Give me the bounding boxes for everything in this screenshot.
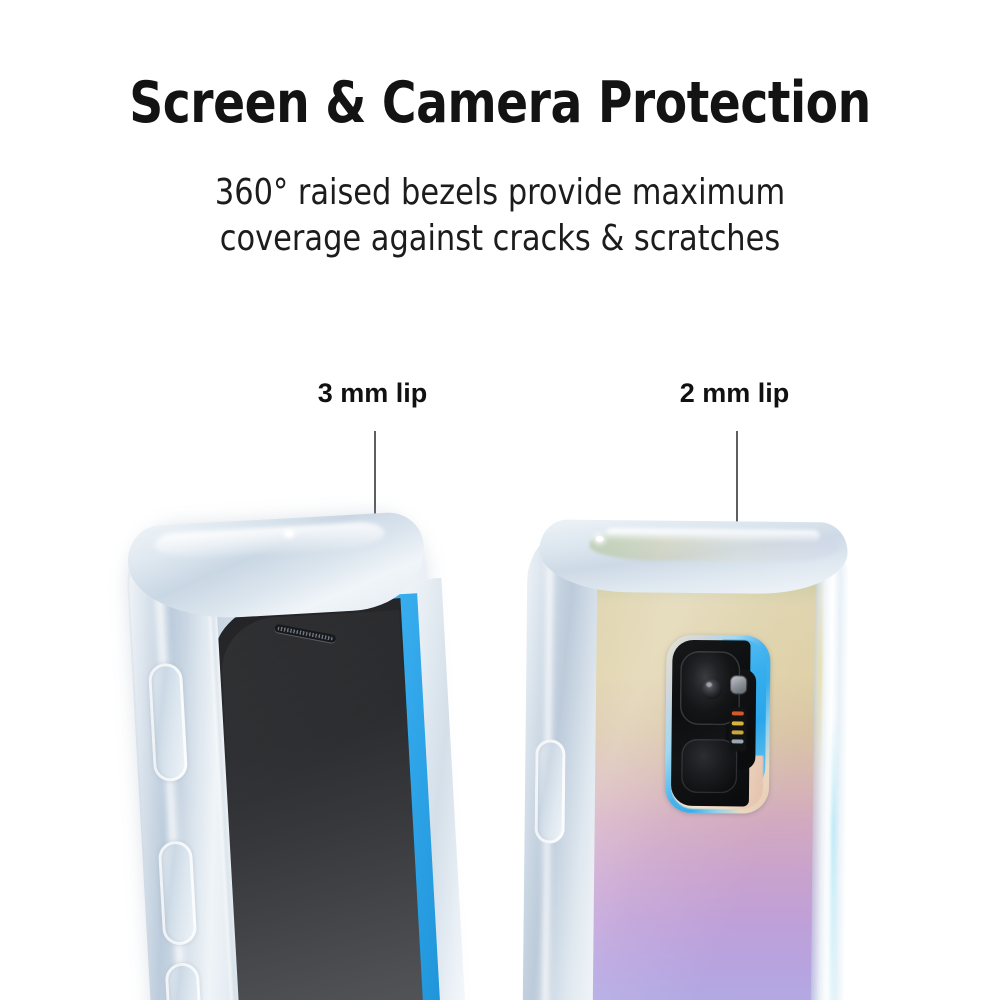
button-cutout-volume-up xyxy=(148,662,189,782)
product-feature-graphic: Screen & Camera Protection 360° raised b… xyxy=(0,0,1000,1000)
button-cutout-volume-down xyxy=(158,840,198,946)
product-image-screen-protection xyxy=(95,495,483,1000)
subtitle-line-2: coverage against cracks & scratches xyxy=(30,216,970,262)
callout-label-camera-lip: 2 mm lip xyxy=(637,378,832,409)
sensor-dot-1 xyxy=(732,711,744,715)
top-lip-highlight-right xyxy=(606,528,820,542)
lens-aperture xyxy=(702,679,722,699)
product-image-camera-protection xyxy=(515,503,880,1000)
button-cutout-power xyxy=(534,739,565,843)
callout-label-screen-lip: 3 mm lip xyxy=(275,378,470,409)
lens-glint-icon xyxy=(706,682,712,687)
page-title: Screen & Camera Protection xyxy=(40,74,960,134)
sensor-dot-4 xyxy=(732,739,744,743)
camera-module xyxy=(665,635,771,814)
page-subtitle: 360° raised bezels provide maximum cover… xyxy=(30,170,970,262)
sensor-dot-3 xyxy=(732,730,744,734)
subtitle-line-1: 360° raised bezels provide maximum xyxy=(215,172,785,213)
specular-highlight-icon xyxy=(596,536,604,542)
led-flash xyxy=(730,675,747,694)
sensor-dot-2 xyxy=(732,721,744,725)
